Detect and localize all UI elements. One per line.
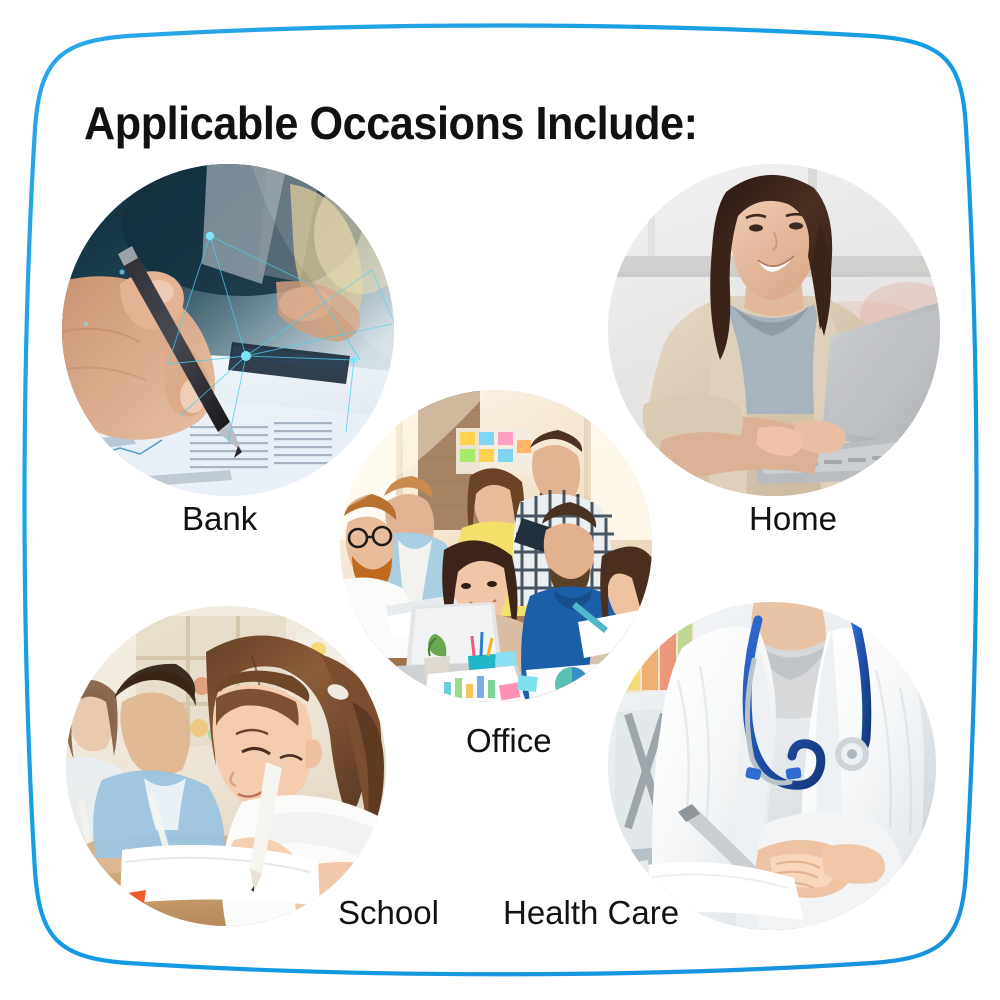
occasion-label-bank: Bank (182, 500, 257, 538)
page-title: Applicable Occasions Include: (84, 96, 698, 150)
occasion-image-office (340, 390, 652, 702)
occasion-label-school: School (338, 894, 439, 932)
occasion-label-home: Home (749, 500, 837, 538)
occasion-image-bank (62, 164, 394, 496)
occasion-image-home (608, 164, 940, 496)
occasion-label-healthcare: Health Care (503, 894, 679, 932)
occasion-image-school (66, 606, 386, 926)
occasion-label-office: Office (466, 722, 552, 760)
occasion-image-healthcare (608, 602, 936, 930)
infographic-canvas: Applicable Occasions Include: (0, 0, 1000, 1000)
